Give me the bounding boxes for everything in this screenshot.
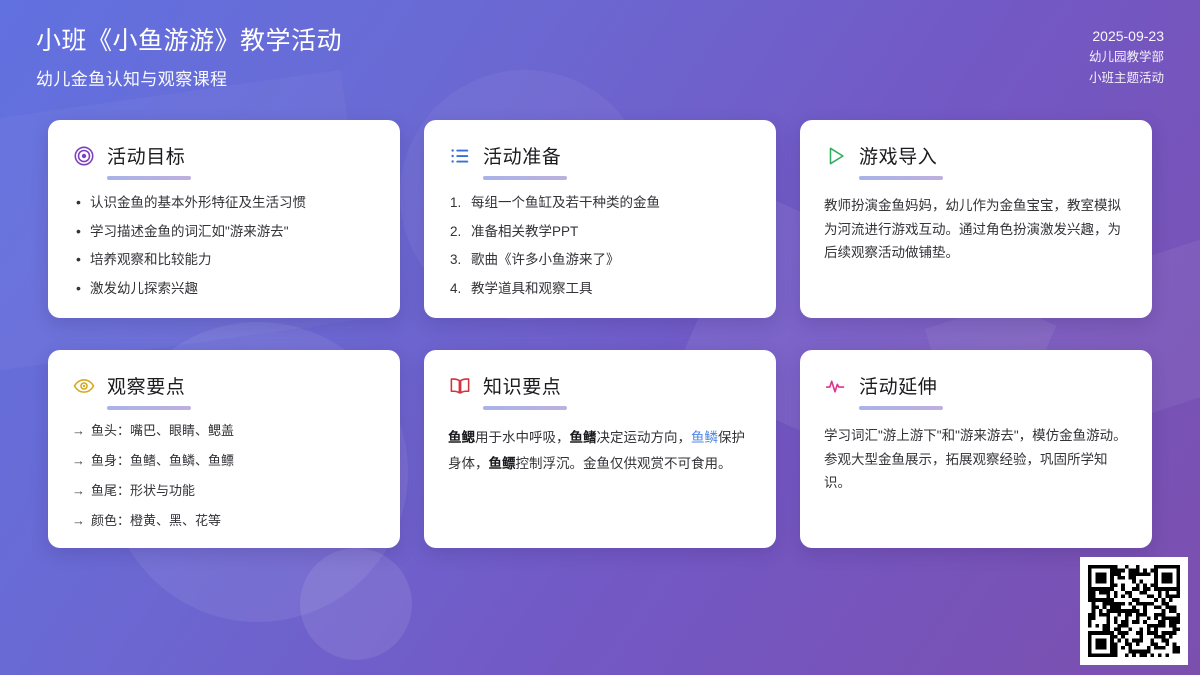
target-icon: [72, 144, 96, 168]
list-item: 鱼身：鱼鳍、鱼鳞、鱼鳔: [72, 452, 376, 471]
card-header: 游戏导入: [824, 142, 1128, 169]
game-introduction-text: 教师扮演金鱼妈妈，幼儿作为金鱼宝宝，教室模拟为河流进行游戏互动。通过角色扮演激发…: [824, 194, 1128, 265]
eye-icon: [72, 374, 96, 398]
card-title: 知识要点: [483, 372, 561, 399]
list-item: 准备相关教学PPT: [448, 222, 752, 242]
list-item: 教学道具和观察工具: [448, 279, 752, 299]
presentation-slide: 小班《小鱼游游》教学活动 幼儿金鱼认知与观察课程 2025-09-23 幼儿园教…: [0, 0, 1200, 675]
list-item: 歌曲《许多小鱼游来了》: [448, 250, 752, 270]
date-label: 2025-09-23: [1092, 26, 1164, 47]
decorative-circle-small: [300, 548, 412, 660]
list-item: 激发幼儿探索兴趣: [72, 279, 376, 299]
title-underline: [107, 176, 191, 180]
list-item: 认识金鱼的基本外形特征及生活习惯: [72, 193, 376, 213]
title-underline: [483, 176, 567, 180]
qr-code-image: [1088, 565, 1180, 657]
card-header: 活动准备: [448, 142, 752, 169]
observation-list: 鱼头：嘴巴、眼睛、鳃盖 鱼身：鱼鳍、鱼鳞、鱼鳔 鱼尾：形状与功能 颜色：橙黄、黑…: [72, 422, 376, 530]
play-icon: [824, 144, 848, 168]
card-knowledge-points[interactable]: 知识要点 鱼鳃用于水中呼吸，鱼鳍决定运动方向，鱼鳞保护身体，鱼鳔控制浮沉。金鱼仅…: [424, 350, 776, 548]
book-icon: [448, 374, 472, 398]
qr-code[interactable]: [1080, 557, 1188, 665]
card-activity-goals[interactable]: 活动目标 认识金鱼的基本外形特征及生活习惯 学习描述金鱼的词汇如"游来游去" 培…: [48, 120, 400, 318]
list-item: 鱼头：嘴巴、眼睛、鳃盖: [72, 422, 376, 441]
title-underline: [859, 406, 943, 410]
card-header: 活动延伸: [824, 372, 1128, 399]
preparation-list: 每组一个鱼缸及若干种类的金鱼 准备相关教学PPT 歌曲《许多小鱼游来了》 教学道…: [448, 193, 752, 298]
list-item: 每组一个鱼缸及若干种类的金鱼: [448, 193, 752, 213]
title-block: 小班《小鱼游游》教学活动 幼儿金鱼认知与观察课程: [36, 26, 342, 90]
card-activity-extension[interactable]: 活动延伸 学习词汇"游上游下"和"游来游去"，模仿金鱼游动。参观大型金鱼展示，拓…: [800, 350, 1152, 548]
knowledge-text: 鱼鳃用于水中呼吸，鱼鳍决定运动方向，鱼鳞保护身体，鱼鳔控制浮沉。金鱼仅供观赏不可…: [448, 425, 752, 476]
list-item: 培养观察和比较能力: [72, 250, 376, 270]
list-item: 鱼尾：形状与功能: [72, 482, 376, 501]
department-label: 幼儿园教学部: [1089, 47, 1164, 68]
card-header: 活动目标: [72, 142, 376, 169]
card-grid: 活动目标 认识金鱼的基本外形特征及生活习惯 学习描述金鱼的词汇如"游来游去" 培…: [48, 120, 1152, 548]
list-item: 颜色：橙黄、黑、花等: [72, 512, 376, 531]
list-item: 学习描述金鱼的词汇如"游来游去": [72, 222, 376, 242]
ordered-list-icon: [448, 144, 472, 168]
card-title: 活动准备: [483, 142, 561, 169]
title-underline: [107, 406, 191, 410]
goal-list: 认识金鱼的基本外形特征及生活习惯 学习描述金鱼的词汇如"游来游去" 培养观察和比…: [72, 193, 376, 298]
card-header: 观察要点: [72, 372, 376, 399]
slide-header: 小班《小鱼游游》教学活动 幼儿金鱼认知与观察课程 2025-09-23 幼儿园教…: [0, 0, 1200, 110]
activity-extension-text: 学习词汇"游上游下"和"游来游去"，模仿金鱼游动。参观大型金鱼展示，拓展观察经验…: [824, 424, 1128, 495]
card-game-introduction[interactable]: 游戏导入 教师扮演金鱼妈妈，幼儿作为金鱼宝宝，教室模拟为河流进行游戏互动。通过角…: [800, 120, 1152, 318]
category-label: 小班主题活动: [1089, 68, 1164, 89]
header-meta: 2025-09-23 幼儿园教学部 小班主题活动: [1089, 26, 1164, 88]
title-underline: [859, 176, 943, 180]
title-underline: [483, 406, 567, 410]
card-activity-preparation[interactable]: 活动准备 每组一个鱼缸及若干种类的金鱼 准备相关教学PPT 歌曲《许多小鱼游来了…: [424, 120, 776, 318]
page-subtitle: 幼儿金鱼认知与观察课程: [36, 65, 342, 90]
pulse-icon: [824, 374, 848, 398]
card-title: 活动目标: [107, 142, 185, 169]
card-title: 游戏导入: [859, 142, 937, 169]
card-header: 知识要点: [448, 372, 752, 399]
card-observation-points[interactable]: 观察要点 鱼头：嘴巴、眼睛、鳃盖 鱼身：鱼鳍、鱼鳞、鱼鳔 鱼尾：形状与功能 颜色…: [48, 350, 400, 548]
card-title: 观察要点: [107, 372, 185, 399]
card-title: 活动延伸: [859, 372, 937, 399]
page-title: 小班《小鱼游游》教学活动: [36, 26, 342, 57]
